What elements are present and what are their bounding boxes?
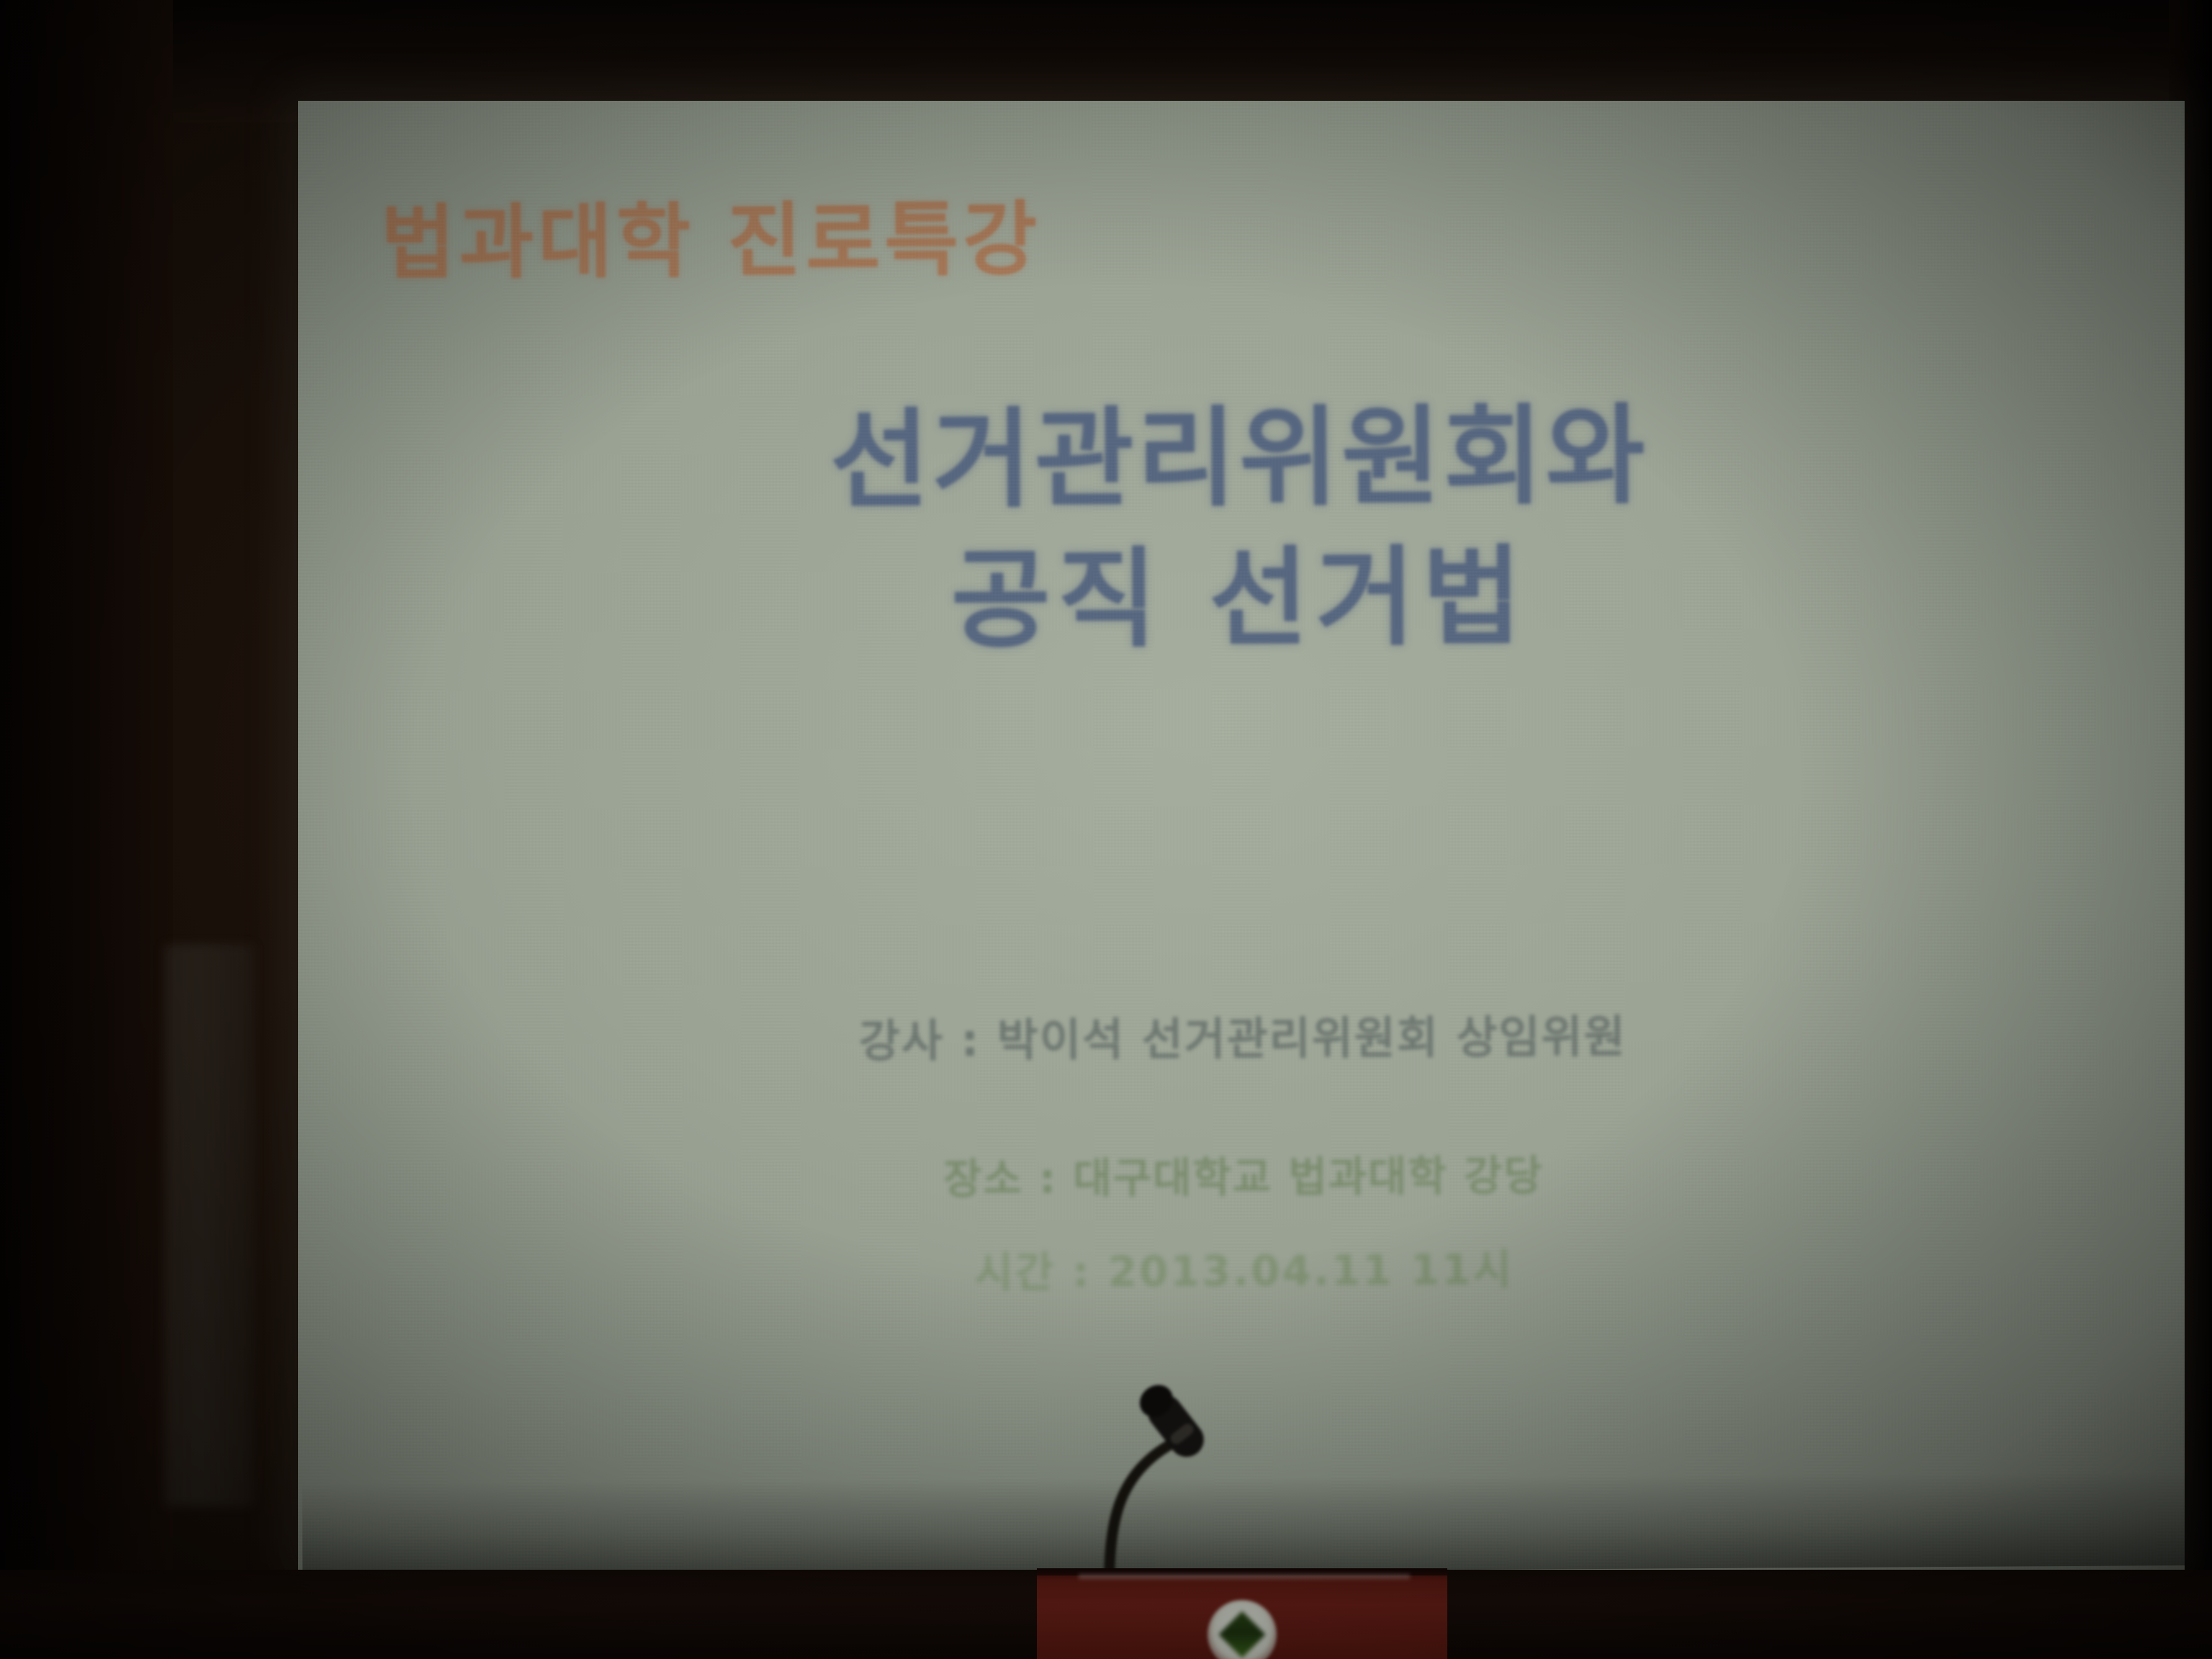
slide-title-line-2: 공직 선거법 bbox=[298, 523, 2184, 675]
slide-content: 법과대학 진로특강 선거관리위원회와 공직 선거법 강사 : 박이석 선거관리위… bbox=[298, 101, 2185, 1571]
podium-emblem-diamond-icon bbox=[1218, 1611, 1265, 1658]
projected-slide: 법과대학 진로특강 선거관리위원회와 공직 선거법 강사 : 박이석 선거관리위… bbox=[298, 101, 2185, 1571]
slide-time-line: 시간 : 2013.04.11 11시 bbox=[300, 1231, 2185, 1303]
lecture-hall-scene: 법과대학 진로특강 선거관리위원회와 공직 선거법 강사 : 박이석 선거관리위… bbox=[0, 0, 2212, 1659]
projection-screen: 법과대학 진로특강 선거관리위원회와 공직 선거법 강사 : 박이석 선거관리위… bbox=[298, 101, 2185, 1571]
podium-emblem bbox=[1208, 1600, 1277, 1659]
slide-place-line: 장소 : 대구대학교 법과대학 강당 bbox=[300, 1138, 2185, 1210]
podium-edge-highlight bbox=[1079, 1574, 1410, 1579]
slide-title-line-1: 선거관리위원회와 bbox=[298, 383, 2182, 535]
slide-lecturer-line: 강사 : 박이석 선거관리위원회 상임위원 bbox=[299, 997, 2185, 1073]
slide-header-text: 법과대학 진로특강 bbox=[380, 174, 1041, 295]
room-wall-left bbox=[0, 0, 173, 1659]
wall-light-panel bbox=[164, 945, 254, 1506]
podium bbox=[1037, 1568, 1447, 1659]
screen-bottom-shadow bbox=[302, 1472, 2185, 1571]
slide-title: 선거관리위원회와 공직 선거법 bbox=[298, 383, 2184, 675]
